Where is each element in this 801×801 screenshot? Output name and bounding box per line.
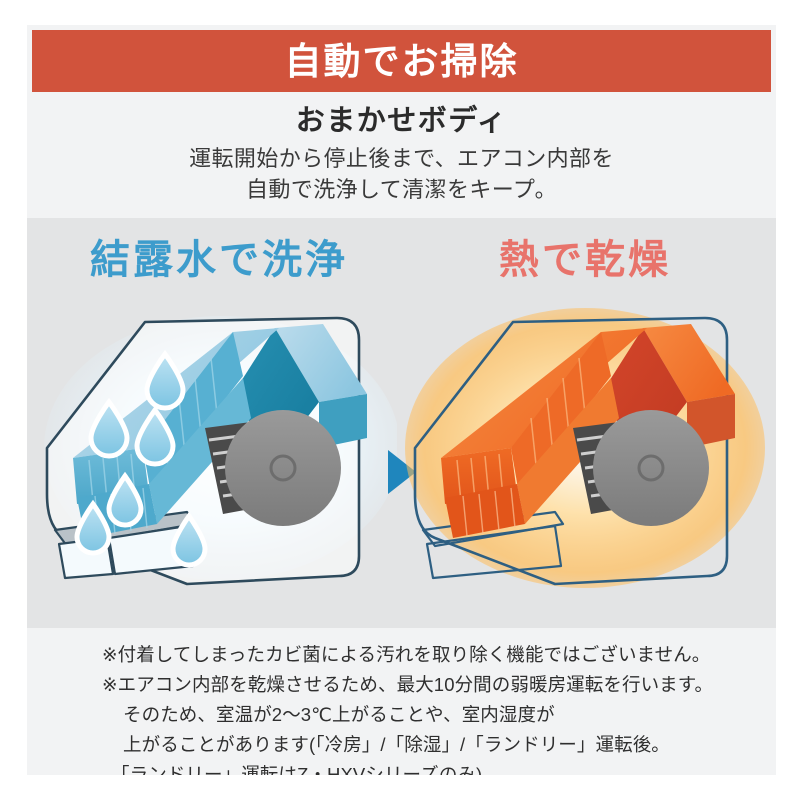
right-panel-heading: 熱で乾燥 (405, 240, 765, 280)
footnote-line: ※エアコン内部を乾燥させるため、最大10分間の弱暖房運転を行います。 (27, 670, 776, 700)
footnote-line: 上がることがあります(「冷房」/「除湿」/「ランドリー」運転後。 (27, 730, 776, 760)
footnote-line: 「ランドリー」運転はZ・HXVシリーズのみ)。 (27, 760, 776, 775)
subtitle-line-2: 自動で洗浄して清潔をキープ。 (27, 174, 776, 205)
content-card: 自動でお掃除 おまかせボディ 運転開始から停止後まで、エアコン内部を 自動で洗浄… (27, 25, 776, 775)
footnote-line: ※付着してしまったカビ菌による汚れを取り除く機能ではございません。 (27, 640, 776, 670)
subtitle-line-1: 運転開始から停止後まで、エアコン内部を (27, 143, 776, 174)
illustration-band: 結露水で洗浄 熱で乾燥 (27, 218, 776, 628)
left-panel-heading: 結露水で洗浄 (39, 240, 399, 280)
footnote-block: ※付着してしまったカビ菌による汚れを取り除く機能ではございません。 ※エアコン内… (27, 628, 776, 775)
infographic-page: 自動でお掃除 おまかせボディ 運転開始から停止後まで、エアコン内部を 自動で洗浄… (0, 0, 801, 801)
left-illustration (37, 298, 397, 608)
banner-title: 自動でお掃除 (285, 43, 519, 80)
right-illustration (405, 298, 765, 608)
footnote-line: そのため、室温が2〜3℃上がることや、室内湿度が (27, 700, 776, 730)
cross-flow-fan (225, 410, 341, 526)
cross-flow-fan (593, 410, 709, 526)
subtitle-heading: おまかせボディ (27, 103, 776, 139)
header-banner: 自動でお掃除 (32, 30, 771, 92)
air-conditioner-heating-diagram (405, 298, 765, 608)
subtitle-block: おまかせボディ 運転開始から停止後まで、エアコン内部を 自動で洗浄して清潔をキー… (27, 103, 776, 206)
air-conditioner-cooling-diagram (37, 298, 397, 608)
